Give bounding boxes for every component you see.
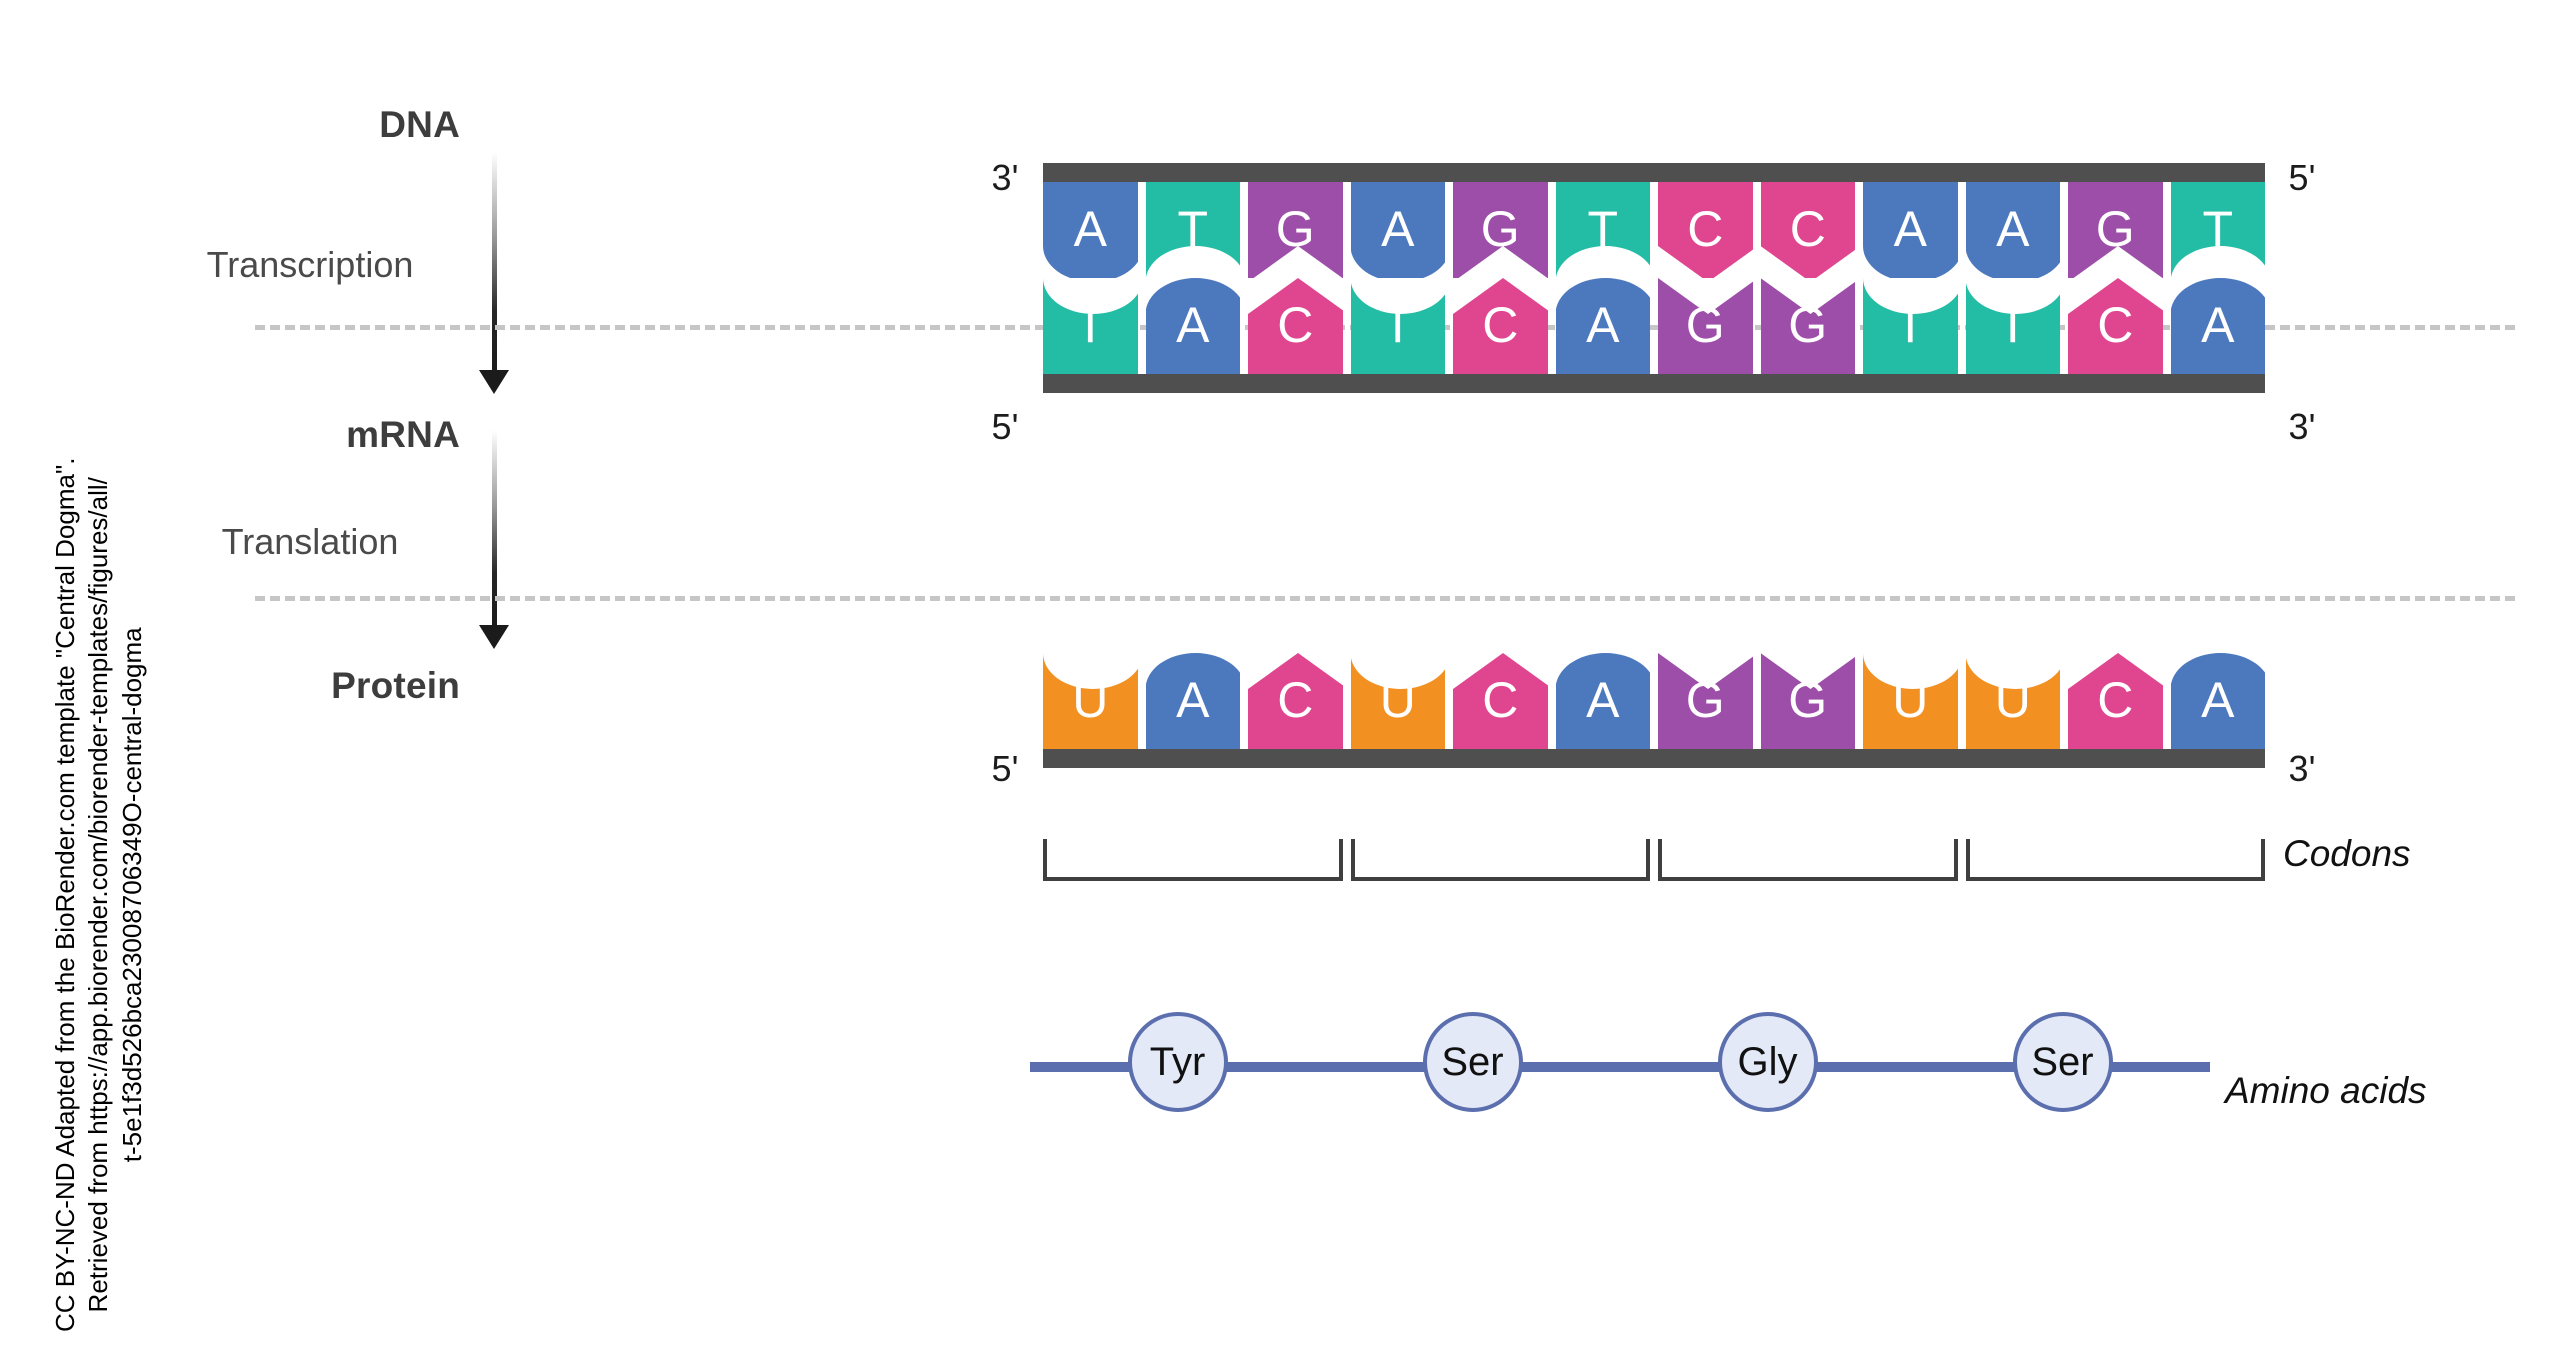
base-letter: T [2202, 204, 2233, 256]
dna-bottom-bases: TACTCAGGTTCA [1043, 278, 2265, 374]
divider-translation [255, 596, 2515, 601]
protein-chain: TyrSerGlySer [1030, 1062, 2210, 1072]
base-letter: U [1995, 675, 2031, 727]
mrna-base-c: C [2068, 653, 2163, 749]
base-letter: G [1481, 204, 1520, 256]
base-letter: U [1380, 675, 1416, 727]
base-letter: A [1894, 204, 1927, 256]
base-letter: A [1586, 300, 1619, 352]
codon-bracket [1351, 839, 1651, 881]
dna-bottom-base-c: C [2068, 278, 2163, 374]
base-letter: A [1381, 204, 1414, 256]
base-letter: T [1177, 204, 1208, 256]
mrna-base-c: C [1453, 653, 1548, 749]
base-letter: A [2201, 675, 2234, 727]
base-letter: G [1788, 300, 1827, 352]
base-letter: C [1482, 675, 1518, 727]
base-letter: G [1686, 300, 1725, 352]
mrna-backbone [1043, 749, 2265, 768]
base-letter: T [1587, 204, 1618, 256]
dna-bottom-base-t: T [1351, 278, 1446, 374]
dna-top-base-a: A [1351, 182, 1446, 278]
amino-acid-gly[interactable]: Gly [1718, 1012, 1818, 1112]
translation-label: Translation [100, 521, 520, 563]
base-letter: G [1686, 675, 1725, 727]
protein-label: Protein [160, 665, 460, 707]
base-letter: A [2201, 300, 2234, 352]
dna-top-base-t: T [2171, 182, 2266, 278]
amino-acid-label: Tyr [1150, 1040, 1206, 1085]
mrna-base-u: U [1863, 653, 1958, 749]
amino-acid-label: Ser [2031, 1040, 2093, 1085]
dna-top-base-t: T [1556, 182, 1651, 278]
dna-top-base-t: T [1146, 182, 1241, 278]
base-letter: C [2097, 300, 2133, 352]
dna-bottom-base-a: A [1556, 278, 1651, 374]
attribution-block: CC BY-NC-ND Adapted from the BioRender.c… [0, 0, 150, 1350]
mrna-strand: UACUCAGGUUCA [1043, 653, 2265, 768]
base-letter: G [1276, 204, 1315, 256]
dna-bottom-base-t: T [1966, 278, 2061, 374]
mrna-base-u: U [1351, 653, 1446, 749]
mrna-base-u: U [1043, 653, 1138, 749]
dna-top-base-g: G [1453, 182, 1548, 278]
codons-caption: Codons [2283, 833, 2411, 875]
dna-backbone-bottom [1043, 374, 2265, 393]
amino-acid-ser[interactable]: Ser [2013, 1012, 2113, 1112]
dna-top-base-a: A [1966, 182, 2061, 278]
dna-bottom-base-c: C [1453, 278, 1548, 374]
dna-backbone-top [1043, 163, 2265, 182]
codon-bracket [1966, 839, 2266, 881]
amino-acid-label: Gly [1738, 1040, 1798, 1085]
base-letter: C [1687, 204, 1723, 256]
dna-bottom-base-a: A [2171, 278, 2266, 374]
transcription-arrow-icon [489, 152, 499, 374]
mrna-base-a: A [1556, 653, 1651, 749]
dna-end-top-right: 5' [2272, 157, 2332, 199]
mrna-end-left: 5' [975, 748, 1035, 790]
codon-bracket [1658, 839, 1958, 881]
base-letter: G [2096, 204, 2135, 256]
dna-end-top-left: 3' [975, 157, 1035, 199]
dna-top-bases: ATGAGTCCAAGT [1043, 182, 2265, 278]
amino-acid-tyr[interactable]: Tyr [1128, 1012, 1228, 1112]
mrna-base-a: A [2171, 653, 2266, 749]
base-letter: A [1996, 204, 2029, 256]
base-letter: G [1788, 675, 1827, 727]
base-letter: C [1277, 675, 1313, 727]
mrna-base-c: C [1248, 653, 1343, 749]
base-letter: T [1382, 300, 1413, 352]
mrna-label: mRNA [160, 414, 460, 456]
dna-top-base-g: G [2068, 182, 2163, 278]
dna-end-bottom-left: 5' [975, 406, 1035, 448]
dna-bottom-base-c: C [1248, 278, 1343, 374]
dna-top-base-g: G [1248, 182, 1343, 278]
dna-end-bottom-right: 3' [2272, 406, 2332, 448]
mrna-base-g: G [1761, 653, 1856, 749]
mrna-bases: UACUCAGGUUCA [1043, 653, 2265, 749]
mrna-base-g: G [1658, 653, 1753, 749]
transcription-label: Transcription [100, 244, 520, 286]
dna-top-base-c: C [1658, 182, 1753, 278]
mrna-end-right: 3' [2272, 748, 2332, 790]
amino-acids-caption: Amino acids [2225, 1070, 2427, 1112]
base-letter: U [1072, 675, 1108, 727]
attribution-line-1: CC BY-NC-ND Adapted from the BioRender.c… [49, 458, 83, 1332]
base-letter: A [1074, 204, 1107, 256]
mrna-base-u: U [1966, 653, 2061, 749]
base-letter: T [1075, 300, 1106, 352]
base-letter: A [1176, 300, 1209, 352]
attribution-line-2: Retrieved from https://app.biorender.com… [82, 477, 116, 1312]
base-letter: A [1176, 675, 1209, 727]
dna-top-base-a: A [1863, 182, 1958, 278]
base-letter: U [1892, 675, 1928, 727]
dna-top-base-a: A [1043, 182, 1138, 278]
dna-bottom-base-a: A [1146, 278, 1241, 374]
amino-acid-label: Ser [1441, 1040, 1503, 1085]
base-letter: C [1790, 204, 1826, 256]
dna-bottom-base-g: G [1658, 278, 1753, 374]
base-letter: C [1277, 300, 1313, 352]
amino-acid-ser[interactable]: Ser [1423, 1012, 1523, 1112]
base-letter: C [2097, 675, 2133, 727]
base-letter: A [1586, 675, 1619, 727]
base-letter: T [1997, 300, 2028, 352]
base-letter: T [1895, 300, 1926, 352]
dna-strand: ATGAGTCCAAGT TACTCAGGTTCA [1043, 163, 2265, 393]
attribution-line-3: t-5e1f3d526bca23008706349O-central-dogma [116, 627, 150, 1162]
mrna-base-a: A [1146, 653, 1241, 749]
dna-bottom-base-t: T [1043, 278, 1138, 374]
base-letter: C [1482, 300, 1518, 352]
dna-top-base-c: C [1761, 182, 1856, 278]
dna-bottom-base-t: T [1863, 278, 1958, 374]
dna-label: DNA [160, 104, 460, 146]
codon-bracket [1043, 839, 1343, 881]
dna-bottom-base-g: G [1761, 278, 1856, 374]
